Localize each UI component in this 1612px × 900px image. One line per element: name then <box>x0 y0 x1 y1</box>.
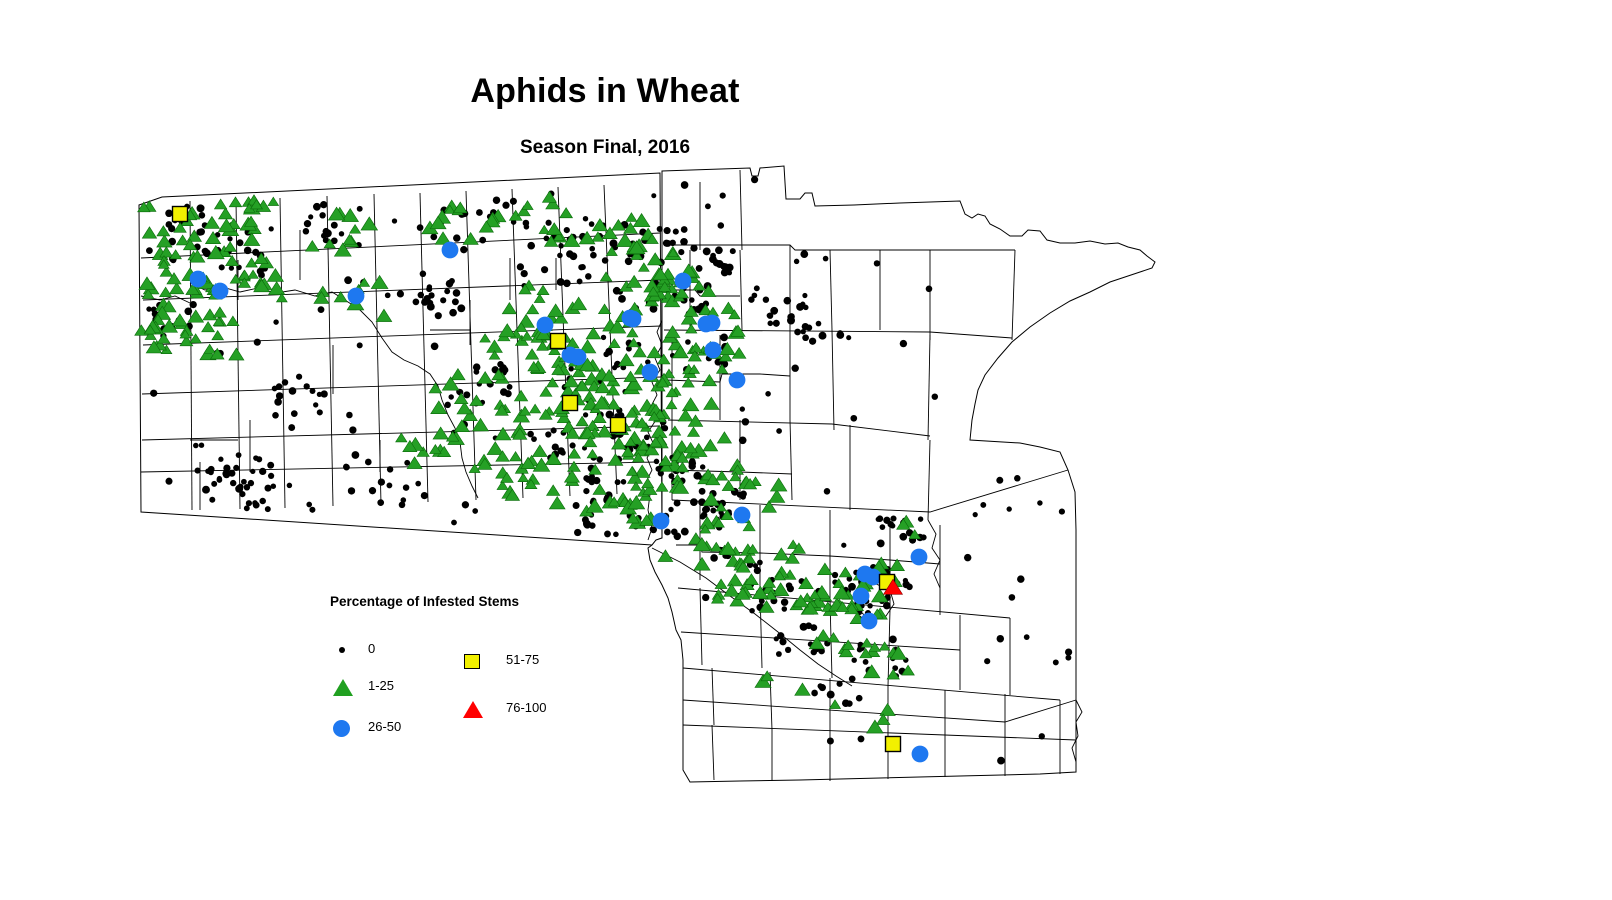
marker-dot[interactable] <box>689 297 695 303</box>
marker-dot[interactable] <box>700 514 706 520</box>
marker-dot[interactable] <box>531 436 537 442</box>
marker-dot[interactable] <box>369 487 376 494</box>
marker-dot[interactable] <box>417 224 424 231</box>
marker-dot[interactable] <box>1059 509 1065 515</box>
marker-dot[interactable] <box>1037 500 1042 505</box>
marker-dot[interactable] <box>842 699 850 707</box>
marker-dot[interactable] <box>346 412 353 419</box>
marker-dot[interactable] <box>685 339 691 345</box>
marker-dot[interactable] <box>877 515 884 522</box>
marker-dot[interactable] <box>720 334 728 342</box>
marker-square[interactable] <box>563 396 578 411</box>
marker-dot[interactable] <box>718 222 725 229</box>
marker-dot[interactable] <box>996 477 1003 484</box>
marker-dot[interactable] <box>816 321 822 327</box>
marker-dot[interactable] <box>502 367 509 374</box>
marker-dot[interactable] <box>218 457 223 462</box>
marker-dot[interactable] <box>343 464 350 471</box>
marker-dot[interactable] <box>304 383 310 389</box>
marker-dot[interactable] <box>601 335 606 340</box>
marker-dot[interactable] <box>583 521 591 529</box>
marker-dot[interactable] <box>720 263 727 270</box>
marker-dot[interactable] <box>664 240 671 247</box>
marker-dot[interactable] <box>452 298 459 305</box>
marker-dot[interactable] <box>890 515 896 521</box>
marker-dot[interactable] <box>541 266 548 273</box>
marker-dot[interactable] <box>473 363 481 371</box>
marker-dot[interactable] <box>700 464 705 469</box>
marker-dot[interactable] <box>776 428 782 434</box>
marker-dot[interactable] <box>973 512 978 517</box>
marker-dot[interactable] <box>190 301 197 308</box>
marker-dot[interactable] <box>472 508 478 514</box>
marker-dot[interactable] <box>1065 648 1072 655</box>
marker-dot[interactable] <box>444 402 450 408</box>
marker-dot[interactable] <box>303 228 309 234</box>
marker-dot[interactable] <box>786 582 792 588</box>
marker-dot[interactable] <box>431 342 439 350</box>
marker-dot[interactable] <box>208 469 214 475</box>
marker-dot[interactable] <box>759 598 765 604</box>
marker-dot[interactable] <box>252 500 258 506</box>
marker-dot[interactable] <box>720 192 726 198</box>
marker-dot[interactable] <box>569 366 574 371</box>
marker-dot[interactable] <box>288 424 295 431</box>
marker-circle[interactable] <box>861 613 878 630</box>
marker-dot[interactable] <box>681 226 688 233</box>
marker-dot[interactable] <box>678 249 684 255</box>
marker-dot[interactable] <box>770 307 778 315</box>
marker-dot[interactable] <box>236 452 242 458</box>
marker-dot[interactable] <box>787 314 793 320</box>
marker-dot[interactable] <box>545 220 551 226</box>
marker-dot[interactable] <box>521 270 528 277</box>
marker-circle[interactable] <box>729 372 746 389</box>
marker-dot[interactable] <box>664 529 671 536</box>
marker-dot[interactable] <box>585 273 592 280</box>
marker-dot[interactable] <box>451 520 457 526</box>
marker-dot[interactable] <box>246 500 252 506</box>
marker-dot[interactable] <box>195 468 201 474</box>
marker-dot[interactable] <box>198 228 205 235</box>
marker-dot[interactable] <box>259 498 266 505</box>
marker-circle[interactable] <box>442 242 459 259</box>
marker-dot[interactable] <box>339 231 344 236</box>
marker-dot[interactable] <box>610 239 618 247</box>
marker-dot[interactable] <box>331 222 338 229</box>
marker-square[interactable] <box>173 207 188 222</box>
marker-dot[interactable] <box>664 227 671 234</box>
marker-dot[interactable] <box>527 431 534 438</box>
marker-dot[interactable] <box>258 272 265 279</box>
marker-dot[interactable] <box>577 278 583 284</box>
marker-dot[interactable] <box>318 306 325 313</box>
marker-dot[interactable] <box>269 226 274 231</box>
marker-dot[interactable] <box>604 530 611 537</box>
marker-dot[interactable] <box>573 502 580 509</box>
marker-dot[interactable] <box>832 572 838 578</box>
marker-dot[interactable] <box>349 426 356 433</box>
marker-dot[interactable] <box>612 365 617 370</box>
marker-dot[interactable] <box>773 320 780 327</box>
marker-dot[interactable] <box>777 632 784 639</box>
marker-dot[interactable] <box>202 248 209 255</box>
marker-dot[interactable] <box>802 334 809 341</box>
marker-dot[interactable] <box>890 523 896 529</box>
marker-dot[interactable] <box>801 329 806 334</box>
marker-dot[interactable] <box>460 246 467 253</box>
marker-dot[interactable] <box>310 388 316 394</box>
marker-dot[interactable] <box>657 226 663 232</box>
marker-dot[interactable] <box>449 309 457 317</box>
marker-dot[interactable] <box>502 202 509 209</box>
marker-dot[interactable] <box>823 256 829 262</box>
marker-dot[interactable] <box>426 286 432 292</box>
marker-dot[interactable] <box>583 488 589 494</box>
marker-dot[interactable] <box>583 216 588 221</box>
marker-dot[interactable] <box>803 305 808 310</box>
marker-dot[interactable] <box>883 602 891 610</box>
marker-dot[interactable] <box>668 507 673 512</box>
marker-dot[interactable] <box>997 757 1005 765</box>
marker-dot[interactable] <box>564 227 570 233</box>
marker-dot[interactable] <box>794 329 801 336</box>
marker-dot[interactable] <box>690 244 697 251</box>
marker-dot[interactable] <box>199 212 206 219</box>
marker-dot[interactable] <box>590 252 597 259</box>
marker-dot[interactable] <box>848 583 856 591</box>
marker-dot[interactable] <box>805 622 812 629</box>
marker-dot[interactable] <box>199 442 204 447</box>
marker-dot[interactable] <box>819 684 826 691</box>
marker-dot[interactable] <box>476 209 483 216</box>
marker-dot[interactable] <box>1017 575 1025 583</box>
marker-dot[interactable] <box>874 260 880 266</box>
marker-dot[interactable] <box>415 481 421 487</box>
marker-dot[interactable] <box>399 501 406 508</box>
marker-dot[interactable] <box>209 497 215 503</box>
marker-dot[interactable] <box>457 304 465 312</box>
marker-dot[interactable] <box>265 506 271 512</box>
marker-dot[interactable] <box>696 265 703 272</box>
marker-dot[interactable] <box>320 201 327 208</box>
marker-dot[interactable] <box>377 499 384 506</box>
marker-dot[interactable] <box>867 603 872 608</box>
marker-dot[interactable] <box>165 210 173 218</box>
marker-dot[interactable] <box>430 233 437 240</box>
marker-dot[interactable] <box>984 658 990 664</box>
marker-dot[interactable] <box>453 289 461 297</box>
marker-dot[interactable] <box>846 335 851 340</box>
marker-dot[interactable] <box>739 436 747 444</box>
marker-dot[interactable] <box>651 193 656 198</box>
marker-dot[interactable] <box>613 287 621 295</box>
marker-square[interactable] <box>886 737 901 752</box>
marker-dot[interactable] <box>527 242 535 250</box>
marker-dot[interactable] <box>877 539 885 547</box>
marker-dot[interactable] <box>248 480 254 486</box>
marker-dot[interactable] <box>674 533 682 541</box>
marker-dot[interactable] <box>794 259 799 264</box>
marker-dot[interactable] <box>500 388 508 396</box>
marker-dot[interactable] <box>767 313 772 318</box>
marker-dot[interactable] <box>791 364 798 371</box>
marker-dot[interactable] <box>219 264 225 270</box>
marker-dot[interactable] <box>344 276 352 284</box>
marker-dot[interactable] <box>166 221 173 228</box>
marker-dot[interactable] <box>378 478 385 485</box>
marker-dot[interactable] <box>296 374 302 380</box>
marker-dot[interactable] <box>710 253 716 259</box>
marker-dot[interactable] <box>146 247 153 254</box>
marker-dot[interactable] <box>1014 475 1021 482</box>
marker-dot[interactable] <box>289 387 297 395</box>
marker-dot[interactable] <box>858 735 865 742</box>
marker-circle[interactable] <box>675 273 692 290</box>
marker-dot[interactable] <box>421 298 428 305</box>
marker-dot[interactable] <box>650 526 656 532</box>
marker-dot[interactable] <box>1007 506 1012 511</box>
marker-dot[interactable] <box>254 339 261 346</box>
marker-dot[interactable] <box>1009 594 1016 601</box>
marker-dot[interactable] <box>926 285 933 292</box>
marker-dot[interactable] <box>802 293 807 298</box>
marker-dot[interactable] <box>184 307 192 315</box>
marker-dot[interactable] <box>560 450 566 456</box>
marker-square[interactable] <box>611 418 626 433</box>
marker-dot[interactable] <box>239 491 245 497</box>
marker-dot[interactable] <box>287 483 292 488</box>
marker-dot[interactable] <box>654 459 660 465</box>
marker-dot[interactable] <box>448 394 453 399</box>
marker-dot[interactable] <box>227 236 232 241</box>
marker-dot[interactable] <box>705 203 711 209</box>
marker-dot[interactable] <box>740 494 746 500</box>
marker-dot[interactable] <box>545 431 551 437</box>
marker-dot[interactable] <box>680 238 688 246</box>
map-canvas[interactable] <box>0 0 1612 900</box>
marker-dot[interactable] <box>268 473 274 479</box>
marker-dot[interactable] <box>837 330 842 335</box>
marker-dot[interactable] <box>365 459 372 466</box>
marker-dot[interactable] <box>589 246 595 252</box>
marker-dot[interactable] <box>146 306 151 311</box>
marker-dot[interactable] <box>849 676 856 683</box>
marker-dot[interactable] <box>306 502 312 508</box>
marker-dot[interactable] <box>702 594 709 601</box>
marker-dot[interactable] <box>291 410 298 417</box>
marker-dot[interactable] <box>742 418 749 425</box>
marker-dot[interactable] <box>605 348 613 356</box>
marker-dot[interactable] <box>918 516 923 521</box>
marker-dot[interactable] <box>688 462 695 469</box>
marker-dot[interactable] <box>748 296 754 302</box>
marker-dot[interactable] <box>237 239 244 246</box>
marker-dot[interactable] <box>233 465 239 471</box>
marker-dot[interactable] <box>997 635 1004 642</box>
marker-circle[interactable] <box>734 507 751 524</box>
marker-dot[interactable] <box>193 443 199 449</box>
marker-dot[interactable] <box>785 647 791 653</box>
marker-dot[interactable] <box>418 292 424 298</box>
marker-dot[interactable] <box>223 464 230 471</box>
marker-circle[interactable] <box>853 588 870 605</box>
marker-dot[interactable] <box>570 442 576 448</box>
marker-dot[interactable] <box>883 517 890 524</box>
marker-dot[interactable] <box>403 484 409 490</box>
marker-dot[interactable] <box>850 415 857 422</box>
marker-dot[interactable] <box>574 529 581 536</box>
marker-dot[interactable] <box>681 528 689 536</box>
marker-dot[interactable] <box>765 391 771 397</box>
marker-dot[interactable] <box>863 659 869 665</box>
marker-dot[interactable] <box>259 468 266 475</box>
marker-dot[interactable] <box>767 320 773 326</box>
marker-circle[interactable] <box>912 746 929 763</box>
marker-circle[interactable] <box>190 271 207 288</box>
marker-circle[interactable] <box>653 513 670 530</box>
marker-dot[interactable] <box>272 412 279 419</box>
marker-dot[interactable] <box>690 498 698 506</box>
marker-dot[interactable] <box>413 299 420 306</box>
marker-dot[interactable] <box>800 250 808 258</box>
marker-circle[interactable] <box>705 342 722 359</box>
marker-dot[interactable] <box>319 212 325 218</box>
marker-dot[interactable] <box>754 285 760 291</box>
marker-dot[interactable] <box>827 691 835 699</box>
marker-dot[interactable] <box>763 296 769 302</box>
marker-dot[interactable] <box>309 507 315 513</box>
marker-dot[interactable] <box>837 681 843 687</box>
marker-dot[interactable] <box>824 488 831 495</box>
marker-dot[interactable] <box>253 455 259 461</box>
marker-dot[interactable] <box>241 479 247 485</box>
marker-dot[interactable] <box>1039 733 1045 739</box>
marker-dot[interactable] <box>782 606 788 612</box>
marker-dot[interactable] <box>856 695 863 702</box>
marker-dot[interactable] <box>615 479 621 485</box>
marker-circle[interactable] <box>537 317 554 334</box>
marker-dot[interactable] <box>313 402 318 407</box>
marker-dot[interactable] <box>900 340 907 347</box>
marker-dot[interactable] <box>589 221 595 227</box>
marker-dot[interactable] <box>420 271 427 278</box>
marker-dot[interactable] <box>211 481 217 487</box>
marker-dot[interactable] <box>397 290 404 297</box>
marker-dot[interactable] <box>317 409 323 415</box>
marker-dot[interactable] <box>276 383 283 390</box>
marker-dot[interactable] <box>510 198 517 205</box>
marker-dot[interactable] <box>229 470 236 477</box>
marker-dot[interactable] <box>523 220 530 227</box>
marker-dot[interactable] <box>644 434 650 440</box>
marker-dot[interactable] <box>229 265 234 270</box>
marker-dot[interactable] <box>703 505 710 512</box>
marker-dot[interactable] <box>444 288 450 294</box>
marker-square[interactable] <box>551 334 566 349</box>
marker-dot[interactable] <box>693 472 701 480</box>
marker-dot[interactable] <box>727 270 732 275</box>
marker-dot[interactable] <box>385 292 391 298</box>
marker-dot[interactable] <box>715 246 723 254</box>
marker-dot[interactable] <box>710 554 718 562</box>
marker-dot[interactable] <box>202 486 210 494</box>
marker-dot[interactable] <box>710 508 716 514</box>
marker-dot[interactable] <box>964 554 971 561</box>
marker-dot[interactable] <box>841 543 846 548</box>
marker-circle[interactable] <box>642 364 659 381</box>
marker-dot[interactable] <box>980 502 986 508</box>
marker-dot[interactable] <box>250 469 255 474</box>
marker-circle[interactable] <box>570 349 587 366</box>
marker-dot[interactable] <box>932 393 938 399</box>
marker-dot[interactable] <box>217 477 223 483</box>
marker-circle[interactable] <box>348 288 365 305</box>
marker-dot[interactable] <box>749 608 755 614</box>
marker-dot[interactable] <box>237 484 243 490</box>
marker-dot[interactable] <box>321 390 328 397</box>
marker-dot[interactable] <box>165 478 172 485</box>
marker-dot[interactable] <box>668 473 674 479</box>
marker-dot[interactable] <box>267 462 274 469</box>
marker-dot[interactable] <box>348 487 355 494</box>
marker-dot[interactable] <box>352 451 360 459</box>
marker-dot[interactable] <box>757 560 763 566</box>
marker-dot[interactable] <box>435 312 442 319</box>
marker-dot[interactable] <box>273 319 278 324</box>
marker-dot[interactable] <box>827 737 834 744</box>
marker-dot[interactable] <box>811 690 818 697</box>
marker-dot[interactable] <box>781 598 788 605</box>
marker-dot[interactable] <box>357 206 363 212</box>
marker-dot[interactable] <box>730 248 736 254</box>
marker-dot[interactable] <box>819 332 827 340</box>
marker-dot[interactable] <box>150 390 157 397</box>
marker-dot[interactable] <box>681 181 689 189</box>
marker-dot[interactable] <box>199 205 204 210</box>
marker-dot[interactable] <box>618 295 626 303</box>
marker-dot[interactable] <box>740 406 745 411</box>
marker-dot[interactable] <box>566 250 573 257</box>
marker-dot[interactable] <box>776 651 782 657</box>
marker-dot[interactable] <box>583 412 588 417</box>
marker-dot[interactable] <box>558 243 564 249</box>
marker-circle[interactable] <box>911 549 928 566</box>
marker-dot[interactable] <box>479 237 486 244</box>
marker-dot[interactable] <box>580 264 586 270</box>
marker-dot[interactable] <box>809 338 816 345</box>
marker-dot[interactable] <box>230 480 236 486</box>
marker-dot[interactable] <box>282 379 288 385</box>
marker-dot[interactable] <box>563 280 571 288</box>
marker-dot[interactable] <box>244 247 252 255</box>
marker-dot[interactable] <box>699 488 706 495</box>
marker-dot[interactable] <box>880 524 886 530</box>
marker-dot[interactable] <box>602 257 609 264</box>
marker-dot[interactable] <box>551 427 557 433</box>
marker-dot[interactable] <box>517 263 524 270</box>
marker-dot[interactable] <box>902 581 909 588</box>
marker-dot[interactable] <box>1024 634 1030 640</box>
marker-dot[interactable] <box>386 482 392 488</box>
marker-dot[interactable] <box>453 235 459 241</box>
marker-dot[interactable] <box>507 384 513 390</box>
marker-dot[interactable] <box>304 220 311 227</box>
marker-dot[interactable] <box>889 636 897 644</box>
marker-dot[interactable] <box>428 292 434 298</box>
marker-dot[interactable] <box>673 229 679 235</box>
marker-dot[interactable] <box>1053 659 1059 665</box>
